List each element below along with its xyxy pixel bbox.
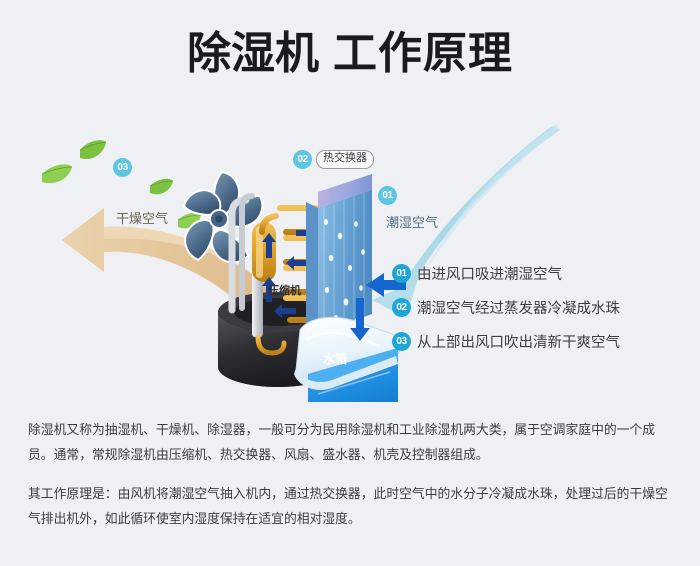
label-water-tank: 水箱 <box>323 350 347 367</box>
heat-exchanger-callout: 热交换器 <box>316 150 374 169</box>
diagram-badge-humid-air: 01 <box>378 186 397 205</box>
diagram-badge-heat-exchanger: 02 <box>293 150 312 169</box>
title-part-1: 除湿机 <box>187 29 319 78</box>
step-badge: 03 <box>392 332 411 351</box>
step-text: 潮湿空气经过蒸发器冷凝成水珠 <box>417 297 620 318</box>
paragraph-definition: 除湿机又称为抽湿机、干燥机、除湿器，一般可分为民用除湿机和工业除湿机两大类，属于… <box>28 418 676 468</box>
label-dry-air: 干燥空气 <box>116 208 168 227</box>
description-section: 除湿机又称为抽湿机、干燥机、除湿器，一般可分为民用除湿机和工业除湿机两大类，属于… <box>28 418 676 532</box>
page-title-text: 除湿机工作原理 <box>187 32 513 76</box>
step-badge: 02 <box>392 298 411 317</box>
steps-list: 01 由进风口吸进潮湿空气 02 潮湿空气经过蒸发器冷凝成水珠 03 从上部出风… <box>392 256 692 358</box>
paragraph-principle: 其工作原理是：由风机将潮湿空气抽入机内，通过热交换器，此时空气中的水分子冷凝成水… <box>28 482 676 532</box>
step-text: 由进风口吸进潮湿空气 <box>417 263 562 284</box>
step-badge: 01 <box>392 264 411 283</box>
page-title: 除湿机工作原理 <box>0 32 700 76</box>
title-part-2: 工作原理 <box>333 29 513 78</box>
step-row: 01 由进风口吸进潮湿空气 <box>392 256 692 290</box>
step-row: 02 潮湿空气经过蒸发器冷凝成水珠 <box>392 290 692 324</box>
step-row: 03 从上部出风口吹出清新干爽空气 <box>392 324 692 358</box>
diagram-badge-dry-air: 03 <box>113 158 132 177</box>
label-compressor: 压缩机 <box>268 282 301 298</box>
step-text: 从上部出风口吹出清新干爽空气 <box>417 331 620 352</box>
heat-exchanger-callout-label: 热交换器 <box>323 152 367 164</box>
label-humid-air: 潮湿空气 <box>386 212 438 231</box>
